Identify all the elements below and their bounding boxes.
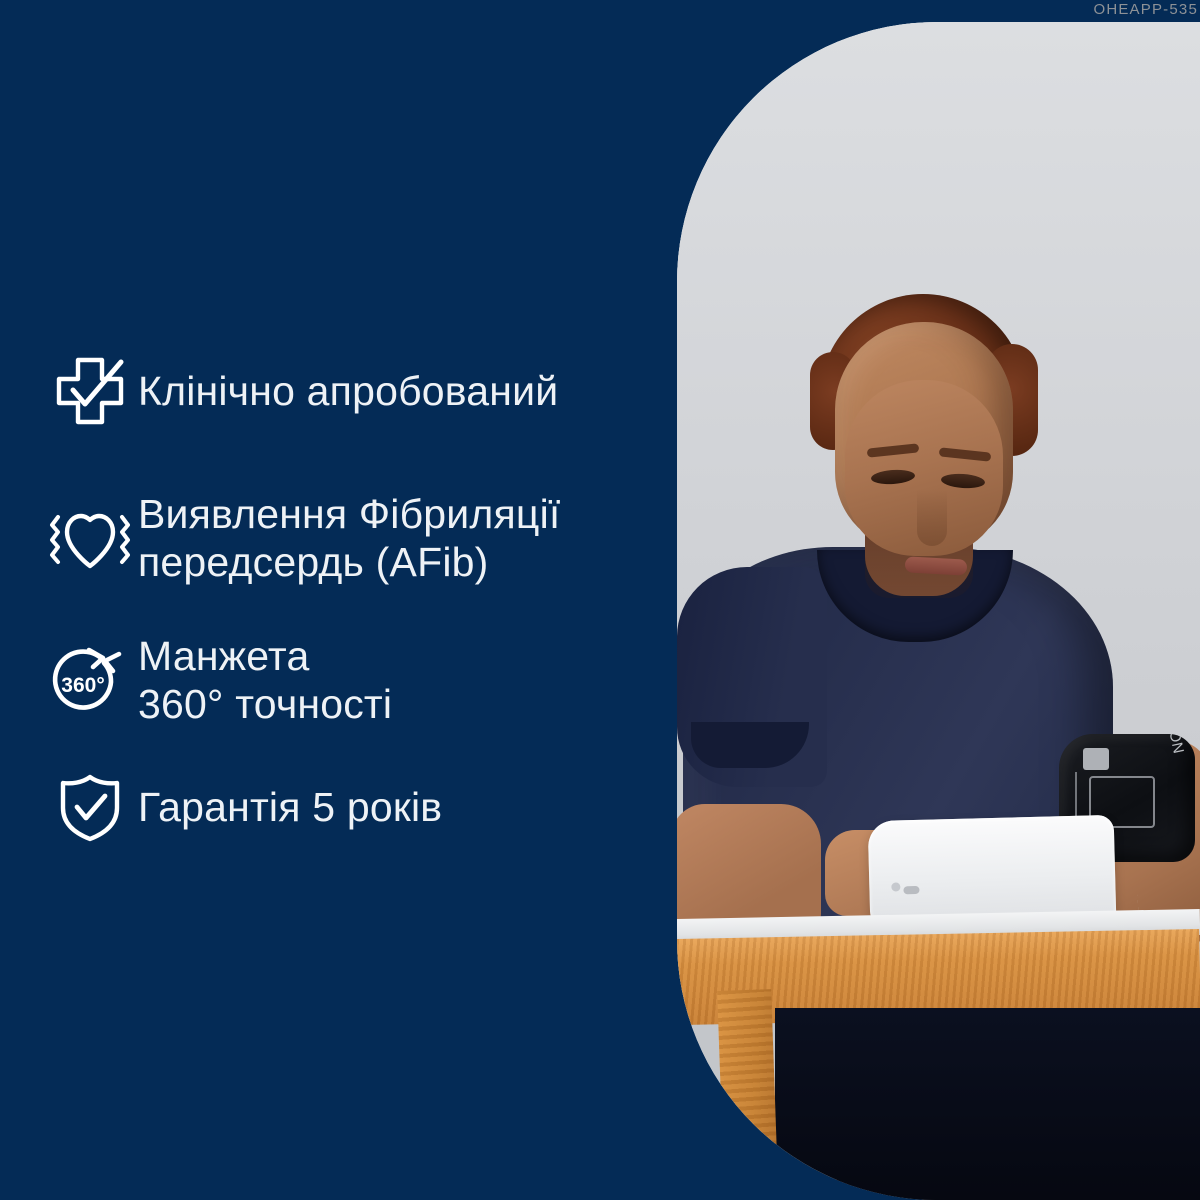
feature-label: Клінічно апробований [138,367,558,415]
medical-cross-check-icon [42,352,138,430]
product-photo-panel: OMRON [677,22,1200,1200]
watermark-label: OHEAPP-535 [1093,1,1198,18]
cuff-brand-label: OMRON [1158,734,1187,756]
monitor-start-button [903,886,919,894]
cuff-patch [1083,748,1109,770]
mouth [905,556,968,575]
monitor-indicator-light [891,882,900,891]
feature-item-warranty: Гарантія 5 років [42,768,442,846]
feature-item-cuff-360: 360° Манжета 360° точності [42,632,392,729]
under-desk-shadow [775,1008,1200,1200]
feature-item-afib-detection: Виявлення Фібриляції передсердь (AFib) [42,490,560,587]
feature-label: Виявлення Фібриляції передсердь (AFib) [138,490,560,587]
feature-label: Гарантія 5 років [138,783,442,831]
rotate-360-icon-text: 360° [61,674,104,697]
nose [917,490,947,546]
feature-label: Манжета 360° точності [138,632,392,729]
feature-item-clinically-validated: Клінічно апробований [42,352,558,430]
feature-list: Клінічно апробований Виявлення Фібриляці… [0,0,677,1200]
promo-banner: OMRON Клінічно апробований [0,0,1200,1200]
shield-check-icon [42,768,138,846]
desk-leg [717,989,779,1200]
rotate-360-icon: 360° [42,640,138,720]
heart-vibration-icon [42,499,138,577]
